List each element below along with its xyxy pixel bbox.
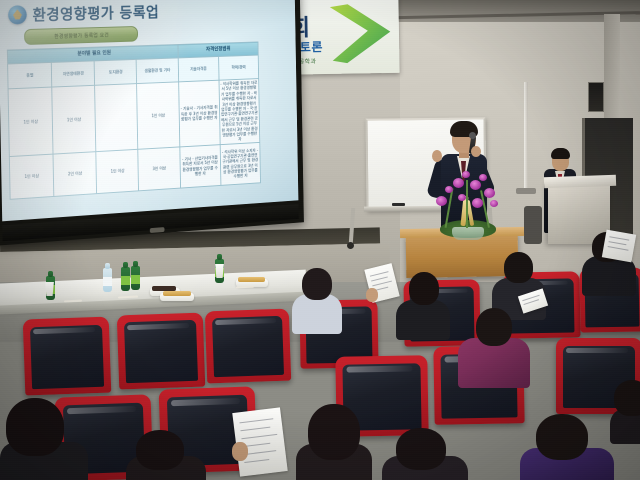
audience-head [6,398,64,456]
slide-title: 환경영향평가 등록업 [32,1,159,25]
audience-member [520,414,612,480]
lecture-hall-photo: 수회 구전학토론 대학교 환경공학과 환경영향평가 등록업 환경영향평가 등록업… [0,0,640,480]
screen-pull-handle [150,227,165,233]
cell-r1c5: - 석사학위 이상 소지자 - 국·공립연구기관·출연연구기관에서 근무 및 환… [220,142,261,185]
cell-r0c0: 1인 이상 [8,87,53,156]
audience-head [476,308,512,346]
orchid-bloom [462,171,470,178]
screen-stand-pole [524,82,528,190]
audience-member [610,380,640,440]
audience-member [458,308,528,386]
sub-header-2: 토지환경 [94,59,137,85]
water-bottle [103,268,112,292]
cell-r1c3: 3인 이상 [138,147,180,191]
printed-handout [602,230,636,263]
orchid-arrangement [432,170,504,240]
screen-stand-base [516,188,536,194]
cell-r1c4: - 기사 - 산업기사자격을 취득한 자로서 5년 이상 환경영향평가 업무를 … [179,144,220,187]
green-tea-bottle [131,266,140,290]
cell-r0c1: 1인 이상 [52,85,96,153]
cell-r1c1: 2인 이상 [53,151,97,196]
sub-header-3: 생활환경 및 기타 [137,58,179,84]
green-chevron-logo-icon [326,1,393,66]
blue-circle-logo-icon [8,5,27,24]
orchid-bloom [453,178,464,188]
audience-member [382,428,466,480]
orchid-bloom [479,174,487,181]
orchid-bloom [470,180,481,190]
cell-r0c3: 1인 이상 [137,82,179,149]
projection-screen: 환경영향평가 등록업 환경영향평가 등록업 요건 분야별 필요 인원 자격인정범… [0,0,304,246]
cell-r0c4: - 기술사 - 기사자격을 취득한 후 3년 이상 환경영향평가 업무를 수행한… [178,80,220,146]
sub-header-5: 학력/경력 [218,55,258,80]
slide-subtitle-pill: 환경영향평가 등록업 요건 [24,26,138,45]
audience-shoulders [396,300,450,340]
orchid-bloom [458,194,466,201]
audience-head [308,404,360,460]
audience-head [396,428,446,470]
cell-r1c2: 1인 이상 [96,149,139,193]
audience-hand [232,442,248,461]
cell-r0c5: - 석사학위를 취득한 자로서 5년 이상 환경영향평가 업무를 수행한 자 -… [219,79,260,145]
auditorium-seat [205,309,291,384]
orchid-bloom [484,188,495,198]
cell-r1c0: 1인 이상 [9,154,54,199]
microphone-head-icon [469,132,476,139]
orchid-vase [452,227,484,240]
audience-member [396,272,450,334]
whiteboard-marker [392,203,405,206]
cell-r0c2 [95,84,138,152]
audience-head [614,380,640,416]
audience-shoulders [582,256,636,296]
sub-header-0: 종별 [8,62,52,88]
slide-table: 분야별 필요 인원 자격인정범위 종별 자연생태환경 토지환경 생활환경 및 기… [7,41,261,199]
yellow-snack [163,291,191,296]
orchid-stem [466,180,468,228]
audience-shoulders [292,294,342,334]
orchid-bloom [490,200,498,207]
auditorium-seat [23,317,112,396]
audience-member [0,398,86,480]
audience-head [302,268,332,300]
lectern-person-hair [551,148,570,159]
green-tea-bottle [121,267,130,291]
sub-header-4: 기술자격증 [178,56,219,81]
audience-member [290,268,344,330]
audience-member [296,404,370,480]
orchid-bloom [445,186,453,193]
audience-head [536,414,588,460]
yellow-snack [238,277,265,282]
presenter-right-hand [471,146,481,157]
wall-speaker-icon [588,82,604,112]
audience-head [136,430,184,470]
projected-slide: 환경영향평가 등록업 환경영향평가 등록업 요건 분야별 필요 인원 자격인정범… [0,0,298,221]
audience-head [409,272,439,305]
presenter-left-hand [432,150,442,162]
orchid-bloom [472,198,483,208]
audience-head [504,252,533,283]
audience-hand [366,288,378,302]
sub-header-1: 자연생태환경 [51,61,94,87]
auditorium-seat [117,313,206,390]
orchid-bloom [436,196,447,206]
audience-member [126,430,204,480]
whiteboard-wheel [347,242,354,249]
